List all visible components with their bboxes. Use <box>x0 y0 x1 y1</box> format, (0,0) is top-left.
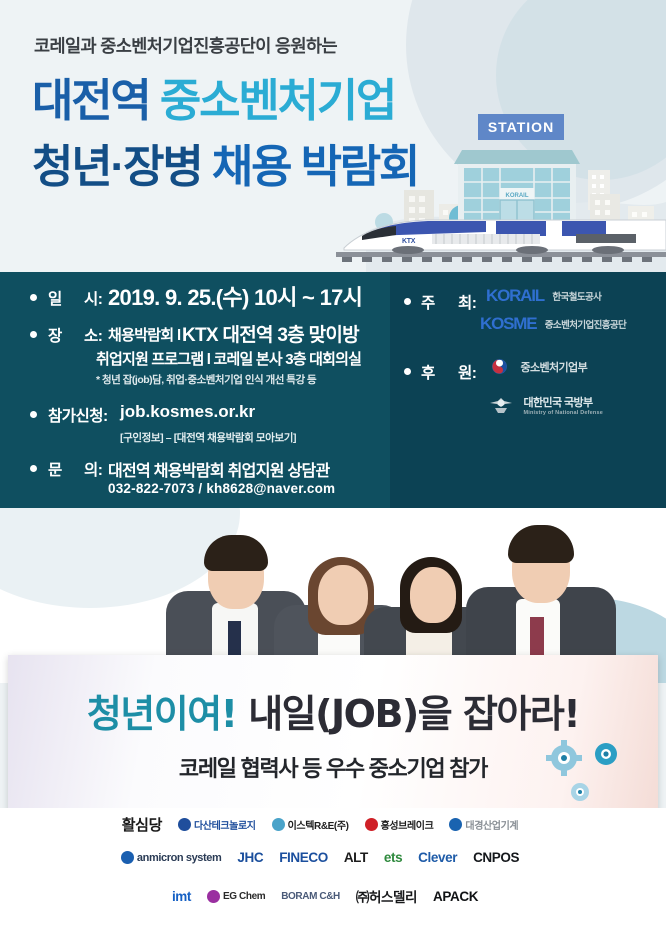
value-place-label: 채용박람회 l <box>108 324 180 345</box>
company-logo-mark <box>365 818 378 831</box>
label-sponsor-a: 후 <box>421 361 435 383</box>
company-logo: ALT <box>344 850 368 865</box>
svg-text:STATION: STATION <box>488 119 554 135</box>
company-logo: 이스텍R&E(주) <box>272 817 349 832</box>
logo-ministry-defense-name: 대한민국 국방부 <box>523 394 603 410</box>
company-logo: BORAM C&H <box>281 891 340 902</box>
ktx-train-illustration: KTX <box>336 210 666 272</box>
company-logo-name: CNPOS <box>473 850 519 865</box>
label-place-a: 장 <box>48 324 62 346</box>
header-kicker: 코레일과 중소벤처기업진흥공단이 응원하는 <box>34 33 337 58</box>
value-place-note: * 청년 잡(job)담, 취업·중소벤처기업 인식 개선 특강 등 <box>96 372 316 387</box>
title-part-daejeon: 대전역 <box>32 75 150 126</box>
company-logo-mark <box>449 818 462 831</box>
label-date-a: 일 <box>48 287 62 309</box>
svg-text:KORAIL: KORAIL <box>506 193 529 199</box>
company-logo: ㈜허스델리 <box>356 886 417 906</box>
company-logo-name: 활심당 <box>122 814 162 835</box>
company-logo: FINECO <box>279 850 328 865</box>
label-date-b: 시: <box>84 287 102 309</box>
logo-kosme-name: 중소벤처기업진흥공단 <box>545 320 626 331</box>
value-date: 2019. 9. 25.(수) 10시 ~ 17시 <box>108 280 362 312</box>
label-host-a: 주 <box>421 291 435 313</box>
label-host-b: 최: <box>458 291 476 313</box>
company-logo-name: FINECO <box>279 850 328 865</box>
value-contact-tel-email: 032-822-7073 / kh8628@naver.com <box>108 481 335 496</box>
svg-text:KTX: KTX <box>402 238 416 245</box>
poster-title-line1: 대전역 중소벤처기업 <box>32 78 395 123</box>
company-logo: imt <box>172 889 191 904</box>
company-logo-name: imt <box>172 889 191 904</box>
title-part-youth-soldier: 청년·장병 <box>32 141 202 192</box>
logo-kosme: KOSME 중소벤처기업진흥공단 <box>480 314 626 334</box>
company-logo: 다산테크놀로지 <box>178 817 256 832</box>
company-logo: CNPOS <box>473 850 519 865</box>
company-logo: APACK <box>433 889 478 904</box>
title-part-sme: 중소벤처기업 <box>160 75 395 126</box>
logo-ministry-defense-sub: Ministry of National Defense <box>523 410 603 416</box>
bullet-host <box>404 298 411 305</box>
poster-root: KORAIL STATION <box>0 0 666 950</box>
logo-korail: KORAIL 한국철도공사 <box>486 286 601 306</box>
poster-title-line2: 청년·장병 채용 박람회 <box>32 144 418 189</box>
logo-ministry-sme: 중소벤처기업부 <box>492 358 587 376</box>
company-logo-name: Clever <box>418 850 457 865</box>
bullet-place <box>30 331 37 338</box>
label-contact-b: 의: <box>84 458 102 480</box>
company-logo: 홍성브레이크 <box>365 817 434 832</box>
held-banner: 청년이여! 내일(JOB)을 잡아라! 코레일 협력사 등 우수 중소기업 참가 <box>8 655 658 820</box>
poster-header: KORAIL STATION <box>0 0 666 272</box>
value-apply-url[interactable]: job.kosmes.or.kr <box>120 402 255 422</box>
company-logo-name: 이스텍R&E(주) <box>288 817 349 832</box>
company-logo-row-3: imt EG Chem BORAM C&H ㈜허스델리 APACK <box>150 886 500 906</box>
company-logo-name: 대경산업기계 <box>465 817 518 832</box>
banner-headline: 청년이여! 내일(JOB)을 잡아라! <box>8 683 658 738</box>
logo-ministry-sme-name: 중소벤처기업부 <box>520 362 587 374</box>
company-logo-name: 홍성브레이크 <box>381 817 434 832</box>
bullet-apply <box>30 411 37 418</box>
value-contact-office: 대전역 채용박람회 취업지원 상담관 <box>108 457 330 481</box>
company-logo-name: 다산테크놀로지 <box>194 817 256 832</box>
company-logo-name: BORAM C&H <box>281 891 340 902</box>
defense-eagle-icon <box>488 395 514 415</box>
company-logo: JHC <box>237 850 263 865</box>
company-logo-mark <box>207 890 220 903</box>
value-apply-path: [구인정보] – [대전역 채용박람회 모아보기] <box>120 430 296 445</box>
event-info-panel: 일 시: 2019. 9. 25.(수) 10시 ~ 17시 장 소: 채용박람… <box>0 272 666 508</box>
company-logo: 활심당 <box>122 814 162 835</box>
company-logo: EG Chem <box>207 890 265 903</box>
label-contact-a: 문 <box>48 458 62 480</box>
title-part-job-fair: 채용 박람회 <box>212 141 418 192</box>
company-logo-name: EG Chem <box>223 891 265 902</box>
label-apply: 참가신청: <box>48 404 108 426</box>
logo-korail-name: 한국철도공사 <box>552 292 601 303</box>
company-logo-row-2: anmicron system JHC FINECO ALT ets Cleve… <box>100 850 540 865</box>
logo-kosme-mark: KOSME <box>480 314 536 333</box>
value-place-venue: KTX 대전역 3층 맞이방 <box>182 320 359 347</box>
company-logo-name: APACK <box>433 889 478 904</box>
company-logo-name: ㈜허스델리 <box>356 886 417 906</box>
bullet-sponsor <box>404 368 411 375</box>
banner-headline-part2: 내일(JOB)을 잡아라! <box>248 692 579 736</box>
company-logo-name: ALT <box>344 850 368 865</box>
company-logo-mark <box>272 818 285 831</box>
company-logo: Clever <box>418 850 457 865</box>
label-place-b: 소: <box>84 324 102 346</box>
company-logo: anmicron system <box>121 851 221 864</box>
value-place-program: 취업지원 프로그램 l 코레일 본사 3층 대회의실 <box>96 348 361 369</box>
company-logo-name: anmicron system <box>137 852 221 864</box>
taegeuk-icon <box>492 359 507 374</box>
bullet-contact <box>30 465 37 472</box>
company-logo-name: JHC <box>237 850 263 865</box>
company-logo-name: ets <box>384 850 402 865</box>
bullet-date <box>30 294 37 301</box>
banner-headline-part1: 청년이여! <box>87 692 237 736</box>
company-logo: ets <box>384 850 402 865</box>
logo-ministry-defense: 대한민국 국방부 Ministry of National Defense <box>488 394 603 416</box>
logo-korail-mark: KORAIL <box>486 286 544 305</box>
label-sponsor-b: 원: <box>458 361 476 383</box>
company-logo: 대경산업기계 <box>449 817 518 832</box>
company-logo-row-1: 활심당 다산테크놀로지 이스텍R&E(주) 홍성브레이크 대경산업기계 <box>100 814 540 835</box>
company-logo-mark <box>178 818 191 831</box>
participating-companies-wall: 활심당 다산테크놀로지 이스텍R&E(주) 홍성브레이크 대경산업기계 <box>0 808 666 950</box>
company-logo-mark <box>121 851 134 864</box>
gear-decoration <box>538 734 634 808</box>
